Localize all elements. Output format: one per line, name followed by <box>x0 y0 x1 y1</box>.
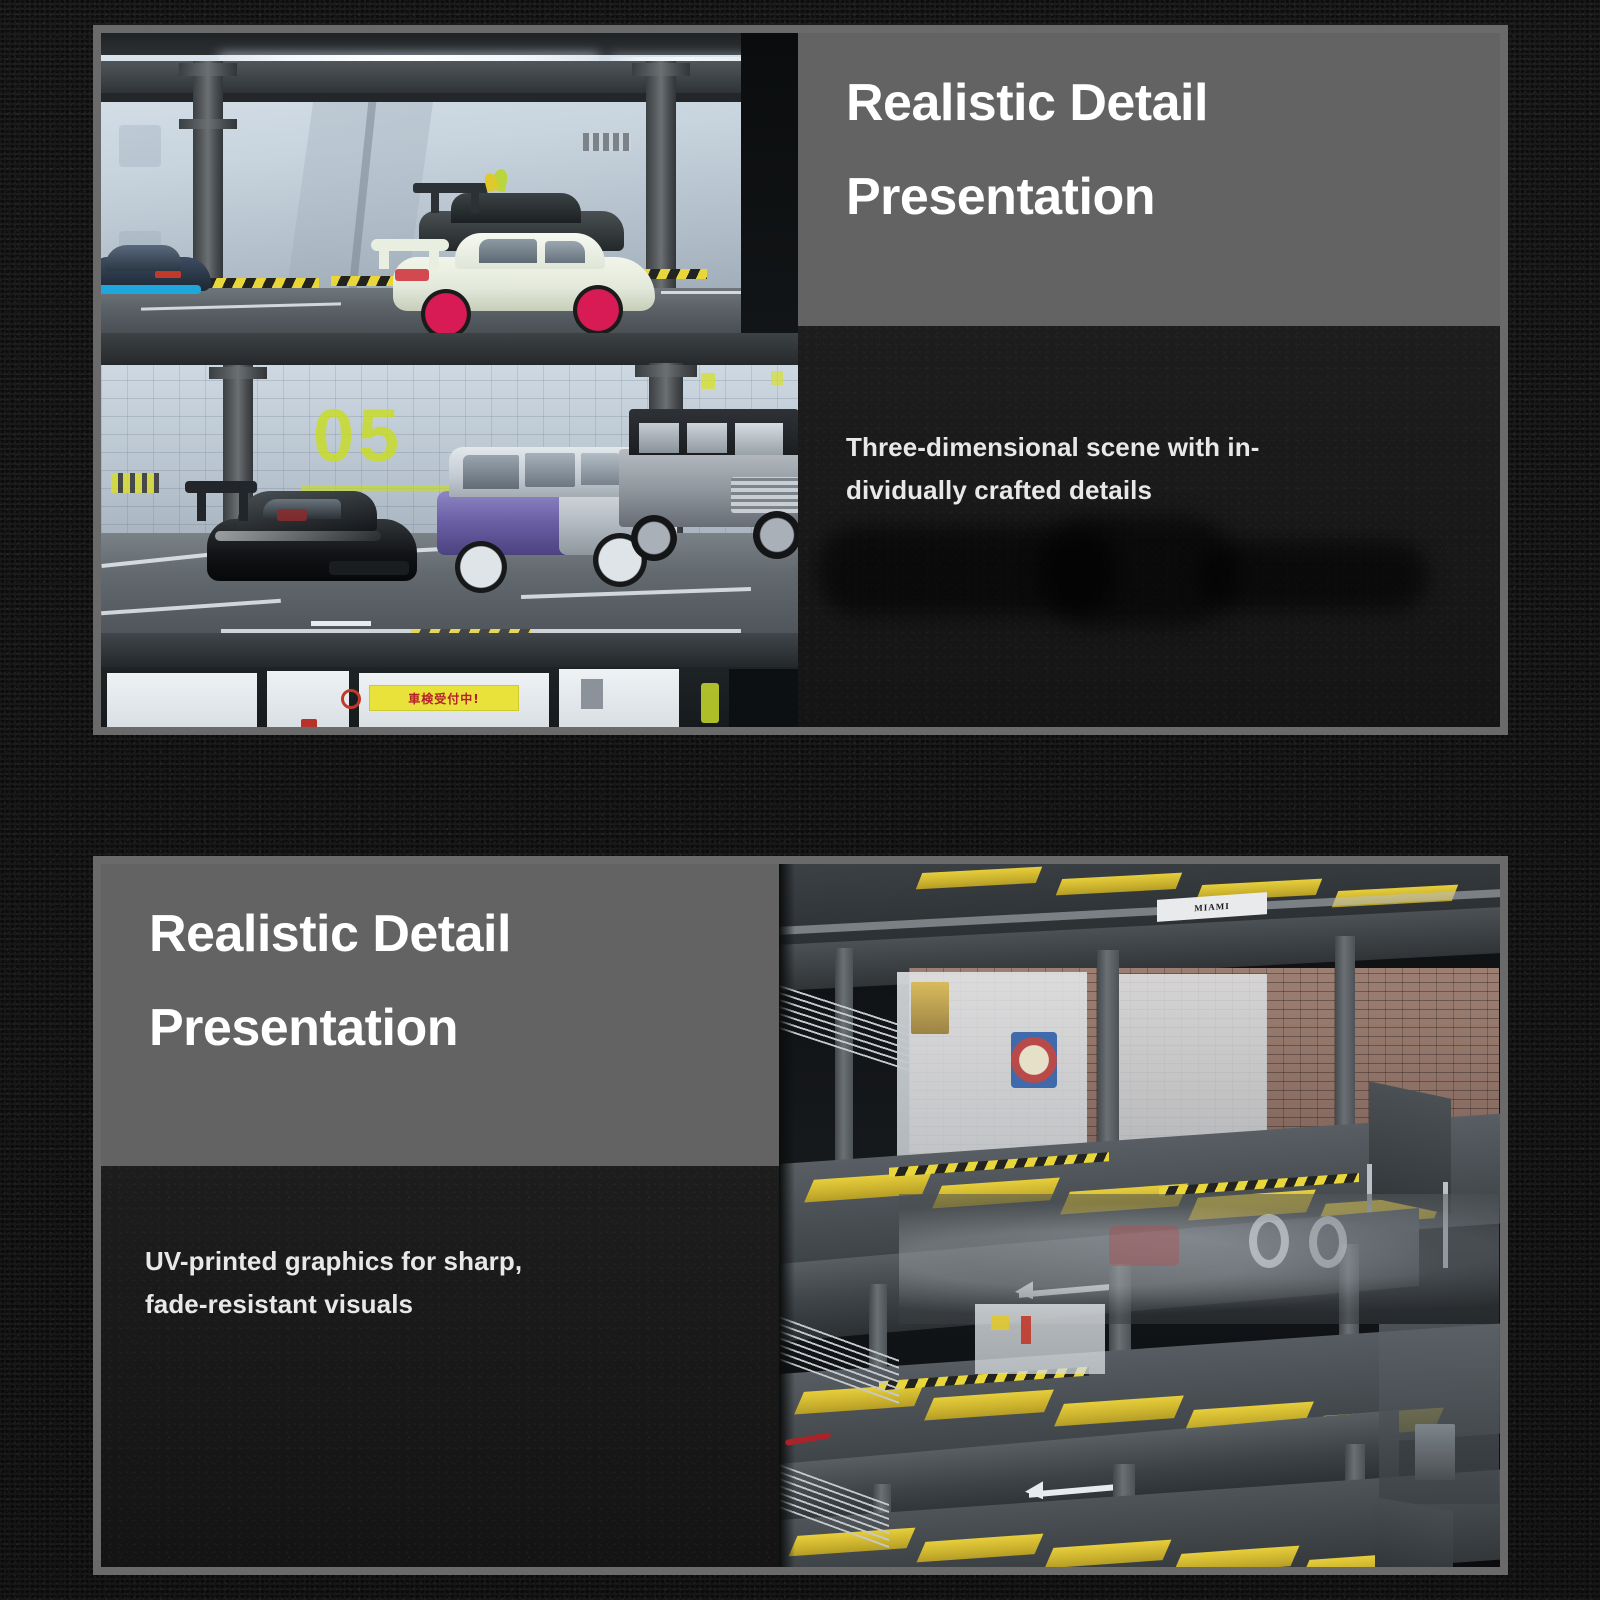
wall-number: 05 <box>313 393 403 478</box>
panel-2-body-line-2: fade-resistant visuals <box>145 1283 779 1326</box>
panel-2-title-line-2: Presentation <box>149 1002 779 1054</box>
car-white-coupe <box>369 211 669 339</box>
panel-2-title-block: Realistic Detail Presentation <box>101 864 779 1166</box>
feature-panel-2: Realistic Detail Presentation UV-printed… <box>93 856 1508 1575</box>
car-black-supercar <box>179 467 429 607</box>
panel-1-text-column: Realistic Detail Presentation Three-dime… <box>798 33 1500 727</box>
panel-1-title-line-2: Presentation <box>846 171 1500 223</box>
car-mercedes-g-wagon <box>611 403 798 563</box>
panel-2-text-column: Realistic Detail Presentation UV-printed… <box>101 864 779 1567</box>
panel-1-body-line-2: dividually crafted details <box>846 469 1500 512</box>
panel-1-body-line-1: Three-dimensional scene with in- <box>846 426 1500 469</box>
panel-1-title-line-1: Realistic Detail <box>846 77 1500 129</box>
feature-panel-1: 05 <box>93 25 1508 735</box>
panel-2-body-line-1: UV-printed graphics for sharp, <box>145 1240 779 1283</box>
jp-inspection-sign: 車検受付中! <box>369 685 519 711</box>
diorama-photo-garage: MIAMI <box>779 864 1500 1567</box>
car-bugatti <box>101 231 211 299</box>
panel-1-body-block: Three-dimensional scene with in- dividua… <box>798 326 1500 735</box>
panel-1-title-block: Realistic Detail Presentation <box>798 33 1500 326</box>
diorama-photo-showroom: 05 <box>101 33 798 727</box>
panel-2-title-line-1: Realistic Detail <box>149 908 779 960</box>
panel-2-body-block: UV-printed graphics for sharp, fade-resi… <box>101 1166 779 1567</box>
